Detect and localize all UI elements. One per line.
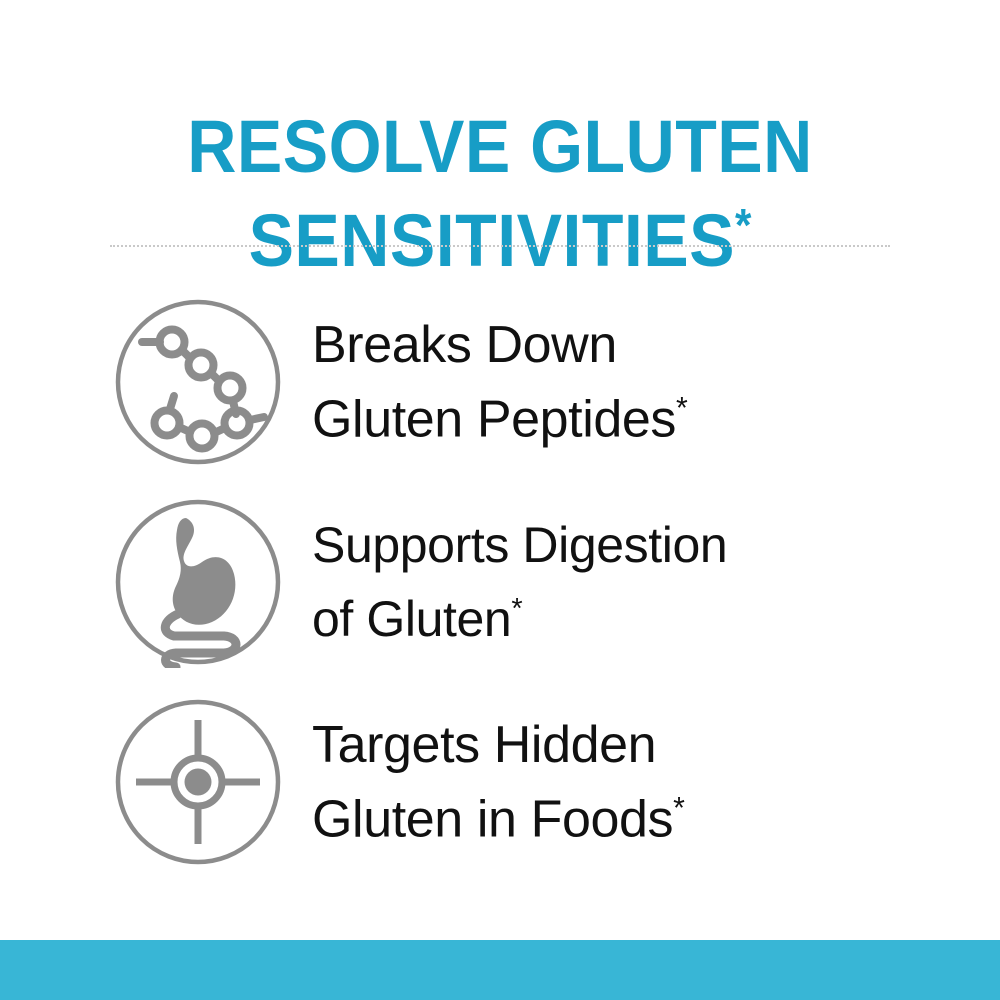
- feature-label: Targets Hidden Gluten in Foods*: [312, 713, 1000, 852]
- feature-label: Supports Digestion of Gluten*: [312, 513, 1000, 651]
- feature-footnote-marker: *: [673, 792, 684, 825]
- target-crosshair-icon: [112, 696, 284, 868]
- bottom-accent-bar: [0, 940, 1000, 1000]
- feature-label-text: Breaks Down Gluten Peptides: [312, 316, 676, 449]
- stomach-intestine-icon: [112, 496, 284, 668]
- feature-row: Supports Digestion of Gluten*: [0, 482, 1000, 682]
- dotted-divider: [110, 245, 890, 249]
- page-title-line-2-text: SENSITIVITIES: [249, 199, 735, 282]
- feature-list: Breaks Down Gluten Peptides* Supports Di…: [0, 282, 1000, 882]
- page-title-footnote-marker: *: [735, 199, 751, 251]
- page-title-line-2: SENSITIVITIES*: [40, 186, 960, 280]
- feature-footnote-marker: *: [511, 593, 522, 625]
- page-title-line-1: RESOLVE GLUTEN: [40, 108, 960, 186]
- feature-label-text: Supports Digestion of Gluten: [312, 517, 727, 647]
- feature-label: Breaks Down Gluten Peptides*: [312, 313, 1000, 452]
- peptide-chain-icon: [112, 296, 284, 468]
- product-benefits-panel: RESOLVE GLUTEN SENSITIVITIES*: [0, 0, 1000, 1000]
- feature-footnote-marker: *: [676, 392, 687, 425]
- feature-row: Targets Hidden Gluten in Foods*: [0, 682, 1000, 882]
- feature-label-text: Targets Hidden Gluten in Foods: [312, 716, 673, 849]
- feature-row: Breaks Down Gluten Peptides*: [0, 282, 1000, 482]
- page-title: RESOLVE GLUTEN SENSITIVITIES*: [40, 108, 960, 280]
